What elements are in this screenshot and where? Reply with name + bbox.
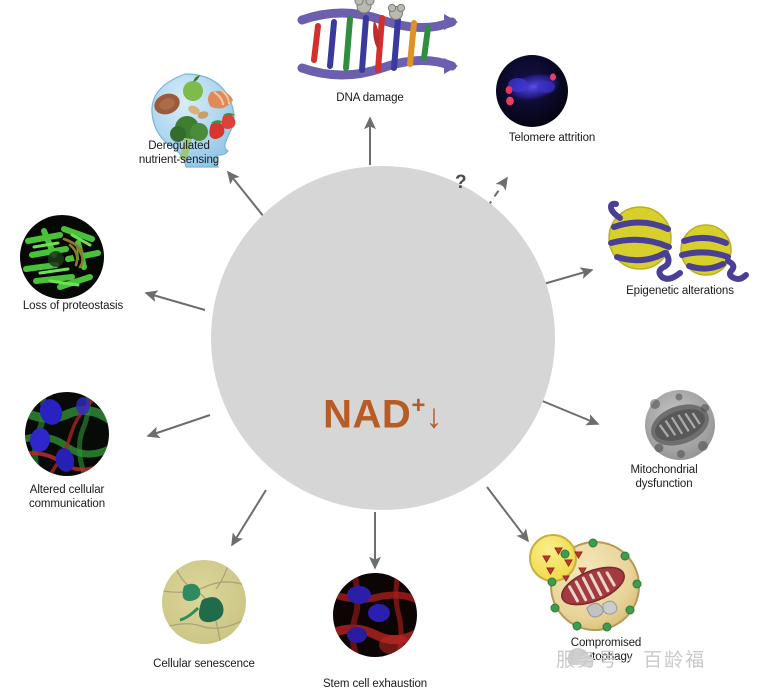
mitochondria-em-icon xyxy=(645,390,715,460)
arrow-to-altered-cellular-communication xyxy=(148,415,210,436)
label-mitochondrial-dysfunction: Mitochondrial dysfunction xyxy=(604,464,724,491)
protein-aggregate-icon xyxy=(20,215,104,299)
nad-down-arrow: ↓ xyxy=(425,397,443,435)
label-deregulated-nutrient-sensing: Deregulated nutrient-sensing xyxy=(114,140,244,167)
arrow-to-cellular-senescence xyxy=(232,490,266,545)
nad-superscript: + xyxy=(411,392,425,419)
nad-label: NAD+↓ xyxy=(211,392,555,437)
nucleosome-icon xyxy=(609,204,746,279)
label-dna-damage: DNA damage xyxy=(290,92,450,106)
cell-communication-micrograph-icon xyxy=(20,387,113,479)
arrow-to-loss-of-proteostasis xyxy=(146,293,205,310)
label-epigenetic-alterations: Epigenetic alterations xyxy=(600,285,760,299)
label-altered-cellular-communication: Altered cellular communication xyxy=(7,484,127,511)
uncertainty-question-mark: ? xyxy=(455,172,467,194)
senescence-stain-icon xyxy=(157,555,252,644)
nad-center-disc xyxy=(211,166,555,510)
autophagosome-icon xyxy=(530,535,641,631)
dna-helix-icon xyxy=(302,0,458,75)
watermark-text: 服务号 · 百龄福 xyxy=(556,645,706,672)
telomere-micrograph-icon xyxy=(496,55,568,127)
label-cellular-senescence: Cellular senescence xyxy=(124,658,284,672)
nad-text: NAD xyxy=(323,392,411,436)
arrow-to-compromised-autophagy xyxy=(487,487,528,541)
label-telomere-attrition: Telomere attrition xyxy=(472,132,632,146)
stem-cell-micrograph-icon xyxy=(328,568,423,663)
label-loss-of-proteostasis: Loss of proteostasis xyxy=(0,300,148,314)
arrow-to-epigenetic-alterations xyxy=(540,270,592,285)
label-stem-cell-exhaustion: Stem cell exhaustion xyxy=(295,678,455,692)
